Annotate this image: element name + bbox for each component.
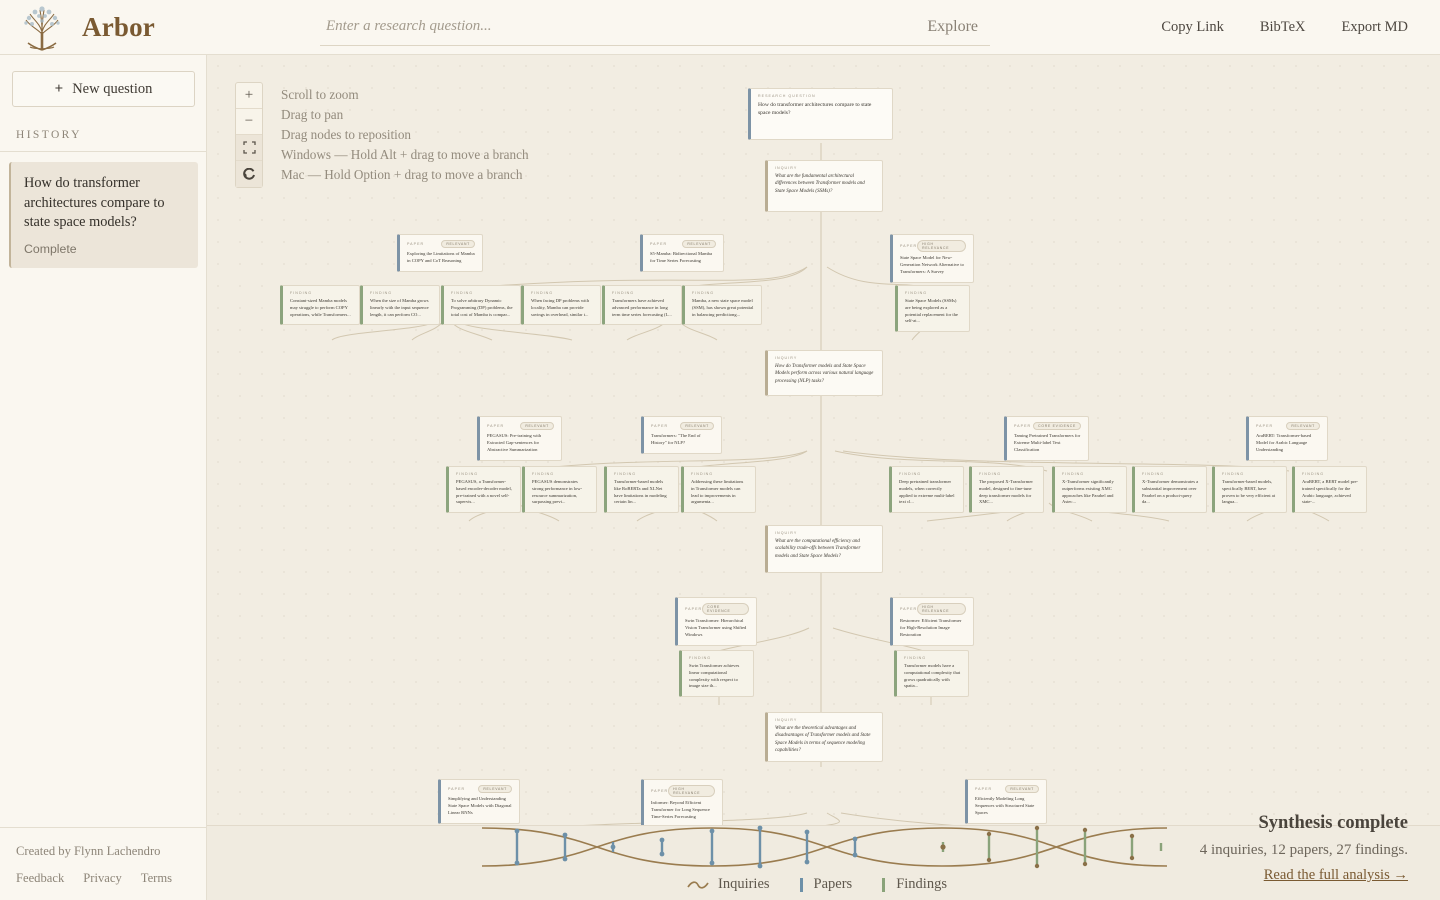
graph-node-finding-f12[interactable]: FINDINGDeep pretrained transformer model…: [889, 466, 964, 513]
graph-node-finding-f9[interactable]: FINDINGPEGASUS demonstrates strong perfo…: [522, 466, 597, 513]
node-kind-label: INQUIRY: [775, 166, 797, 170]
node-header: FINDING: [614, 472, 671, 476]
hint-scroll-zoom: Scroll to zoom: [281, 85, 529, 105]
node-kind-label: INQUIRY: [775, 531, 797, 535]
graph-node-paper-p4[interactable]: PAPERRELEVANTPEGASUS: Pre-training with …: [477, 416, 562, 461]
node-header: INQUIRY: [775, 718, 875, 722]
node-text: Transformers have achieved advanced perf…: [612, 298, 674, 318]
node-header: FINDING: [370, 291, 432, 295]
graph-node-paper-p10[interactable]: PAPERRELEVANTSimplifying and Understandi…: [438, 779, 520, 824]
node-kind-label: FINDING: [532, 472, 554, 476]
graph-node-paper-p11[interactable]: PAPERHIGH RELEVANCEInformer: Beyond Effi…: [641, 779, 723, 825]
node-text: S5-Mamba: Bidirectional Mamba for Time S…: [650, 251, 716, 265]
hint-drag-pan: Drag to pan: [281, 105, 529, 125]
explore-button[interactable]: Explore: [919, 16, 986, 38]
node-relevance-badge: RELEVANT: [478, 785, 512, 793]
node-kind-label: PAPER: [900, 244, 917, 248]
node-text: Constant-sized Mamba models may struggle…: [290, 298, 352, 318]
node-kind-label: FINDING: [689, 656, 711, 660]
node-header: PAPERCORE EVIDENCE: [1014, 422, 1081, 430]
graph-node-finding-f17[interactable]: FINDINGAraBERT, a BERT model pre-trained…: [1292, 466, 1367, 513]
graph-node-paper-p1[interactable]: PAPERRELEVANTExploring the Limitations o…: [397, 234, 483, 272]
tree-icon: [16, 2, 68, 52]
node-header: FINDING: [904, 656, 961, 660]
node-text: Swin Transformer: Hierarchical Vision Tr…: [685, 618, 749, 638]
node-relevance-badge: HIGH RELEVANCE: [917, 240, 966, 252]
legend-findings-label: Findings: [896, 876, 947, 893]
node-kind-label: FINDING: [451, 291, 473, 295]
node-text: The proposed X-Transformer model, design…: [979, 479, 1036, 506]
node-text: Efficiently Modeling Long Sequences with…: [975, 796, 1039, 816]
node-text: Transformer-based models, specifically B…: [1222, 479, 1279, 506]
node-header: FINDING: [1222, 472, 1279, 476]
node-text: To solve arbitrary Dynamic Programming (…: [451, 298, 513, 318]
legend-inquiries: Inquiries: [687, 876, 770, 893]
node-kind-label: FINDING: [370, 291, 392, 295]
synthesis-stats: 4 inquiries, 12 papers, 27 findings.: [1200, 842, 1408, 859]
wave-icon: [687, 880, 709, 890]
node-text: Exploring the Limitations of Mamba in CO…: [407, 251, 475, 265]
node-kind-label: FINDING: [899, 472, 921, 476]
graph-node-inquiry-i1[interactable]: INQUIRYWhat are the fundamental architec…: [765, 160, 883, 212]
app-title: Arbor: [82, 12, 155, 43]
graph-node-inquiry-i2[interactable]: INQUIRYHow do Transformer models and Sta…: [765, 350, 883, 396]
reset-view-button[interactable]: [236, 161, 262, 187]
node-text: What are the fundamental architectural d…: [775, 173, 875, 195]
refresh-icon: [243, 168, 256, 181]
node-text: Addressing these limitations in Transfor…: [691, 479, 748, 506]
node-header: FINDING: [456, 472, 513, 476]
node-header: INQUIRY: [775, 356, 875, 360]
history-item-status: Complete: [24, 242, 186, 256]
node-kind-label: PAPER: [650, 242, 667, 246]
graph-node-finding-f14[interactable]: FINDINGX-Transformer significantly outpe…: [1052, 466, 1127, 513]
graph-node-paper-p6[interactable]: PAPERCORE EVIDENCETaming Pretrained Tran…: [1004, 416, 1089, 461]
footer-links: Feedback Privacy Terms: [16, 871, 207, 886]
new-question-button[interactable]: + New question: [12, 71, 195, 107]
bar-icon: [880, 877, 887, 893]
graph-node-root-root[interactable]: RESEARCH QUESTIONHow do transformer arch…: [748, 88, 893, 140]
graph-node-paper-p8[interactable]: PAPERCORE EVIDENCESwin Transformer: Hier…: [675, 597, 757, 646]
zoom-in-button[interactable]: +: [236, 83, 262, 109]
graph-node-finding-f8[interactable]: FINDINGPEGASUS, a Transformer-based enco…: [446, 466, 521, 513]
graph-node-finding-f10[interactable]: FINDINGTransformer-based models like RoB…: [604, 466, 679, 513]
node-relevance-badge: RELEVANT: [441, 240, 475, 248]
read-full-analysis-link[interactable]: Read the full analysis →: [1264, 867, 1408, 884]
sidebar-footer: Created by Flynn Lachendro Feedback Priv…: [0, 827, 207, 900]
graph-node-finding-f7[interactable]: FINDINGState Space Models (SSMs) are bei…: [895, 285, 970, 332]
graph-node-finding-f1[interactable]: FINDINGConstant-sized Mamba models may s…: [280, 285, 360, 325]
graph-node-finding-f6[interactable]: FINDINGMamba, a new state space model (S…: [682, 285, 762, 325]
node-relevance-badge: RELEVANT: [1005, 785, 1039, 793]
node-text: When facing DP problems with locality, M…: [531, 298, 593, 318]
feedback-link[interactable]: Feedback: [16, 871, 64, 886]
node-kind-label: PAPER: [487, 424, 504, 428]
node-relevance-badge: HIGH RELEVANCE: [668, 785, 715, 797]
helix-visualization: [477, 818, 1167, 881]
node-header: FINDING: [451, 291, 513, 295]
node-kind-label: RESEARCH QUESTION: [758, 94, 816, 98]
node-kind-label: FINDING: [1302, 472, 1324, 476]
hint-drag-nodes: Drag nodes to reposition: [281, 125, 529, 145]
graph-node-inquiry-i3[interactable]: INQUIRYWhat are the computational effici…: [765, 525, 883, 573]
node-header: FINDING: [1302, 472, 1359, 476]
export-md-button[interactable]: Export MD: [1342, 19, 1408, 36]
legend-papers-label: Papers: [814, 876, 853, 893]
node-header: PAPERHIGH RELEVANCE: [651, 785, 715, 797]
node-relevance-badge: CORE EVIDENCE: [1033, 422, 1081, 430]
node-text: Taming Pretrained Transformers for Extre…: [1014, 433, 1081, 453]
node-header: INQUIRY: [775, 531, 875, 535]
node-relevance-badge: RELEVANT: [680, 422, 714, 430]
zoom-out-button[interactable]: −: [236, 109, 262, 135]
node-relevance-badge: RELEVANT: [520, 422, 554, 430]
canvas-hints: Scroll to zoom Drag to pan Drag nodes to…: [281, 85, 529, 185]
graph-node-paper-p2[interactable]: PAPERRELEVANTS5-Mamba: Bidirectional Mam…: [640, 234, 724, 272]
node-kind-label: PAPER: [900, 607, 917, 611]
node-header: FINDING: [1062, 472, 1119, 476]
node-header: PAPERCORE EVIDENCE: [685, 603, 749, 615]
graph-node-paper-p9[interactable]: PAPERHIGH RELEVANCERestormer: Efficient …: [890, 597, 974, 646]
node-kind-label: INQUIRY: [775, 356, 797, 360]
node-text: Swin Transformer achieves linear computa…: [689, 663, 746, 690]
node-text: AraBERT: Transformer-based Model for Ara…: [1256, 433, 1320, 453]
node-header: FINDING: [905, 291, 962, 295]
node-kind-label: FINDING: [691, 472, 713, 476]
node-text: PEGASUS demonstrates strong performance …: [532, 479, 589, 506]
node-text: Transformer models have a computational …: [904, 663, 961, 690]
node-header: PAPERRELEVANT: [1256, 422, 1320, 430]
fit-to-screen-button[interactable]: [236, 135, 262, 161]
node-text: Informer: Beyond Efficient Transformer f…: [651, 800, 715, 820]
graph-node-finding-f18[interactable]: FINDINGSwin Transformer achieves linear …: [679, 650, 754, 697]
credit-text: Created by Flynn Lachendro: [16, 844, 207, 859]
node-kind-label: FINDING: [1142, 472, 1164, 476]
new-question-label: New question: [72, 81, 152, 98]
node-kind-label: INQUIRY: [775, 718, 797, 722]
node-text: Transformers: "The End of History" for N…: [651, 433, 714, 447]
node-kind-label: PAPER: [685, 607, 702, 611]
node-kind-label: FINDING: [905, 291, 927, 295]
graph-node-finding-f13[interactable]: FINDINGThe proposed X-Transformer model,…: [969, 466, 1044, 513]
privacy-link[interactable]: Privacy: [83, 871, 121, 886]
node-kind-label: PAPER: [651, 424, 668, 428]
node-header: FINDING: [689, 656, 746, 660]
node-kind-label: FINDING: [692, 291, 714, 295]
bottom-status-bar: Inquiries Papers Findings Synthesis comp…: [207, 825, 1440, 900]
node-header: FINDING: [531, 291, 593, 295]
node-text: AraBERT, a BERT model pre-trained specif…: [1302, 479, 1359, 506]
search-input[interactable]: [324, 18, 884, 35]
node-header: FINDING: [692, 291, 754, 295]
node-text: What are the computational efficiency an…: [775, 538, 875, 560]
node-text: State Space Models (SSMs) are being expl…: [905, 298, 962, 325]
node-header: FINDING: [1142, 472, 1199, 476]
graph-node-finding-f4[interactable]: FINDINGWhen facing DP problems with loca…: [521, 285, 601, 325]
node-kind-label: FINDING: [614, 472, 636, 476]
node-text: PEGASUS: Pre-training with Extracted Gap…: [487, 433, 554, 453]
node-header: PAPERRELEVANT: [448, 785, 512, 793]
expand-icon: [243, 141, 256, 154]
node-text: X-Transformer demonstrates a substantial…: [1142, 479, 1199, 506]
node-header: FINDING: [612, 291, 674, 295]
node-header: PAPERRELEVANT: [487, 422, 554, 430]
graph-node-finding-f15[interactable]: FINDINGX-Transformer demonstrates a subs…: [1132, 466, 1207, 513]
node-text: How do Transformer models and State Spac…: [775, 363, 875, 385]
zoom-controls: + −: [235, 82, 263, 188]
node-kind-label: PAPER: [975, 787, 992, 791]
graph-canvas[interactable]: + − Scroll to zoom Drag to pan Drag node…: [207, 55, 1440, 825]
graph-node-finding-f3[interactable]: FINDINGTo solve arbitrary Dynamic Progra…: [441, 285, 521, 325]
node-text: PEGASUS, a Transformer-based encoder-dec…: [456, 479, 513, 506]
legend-findings: Findings: [880, 876, 947, 893]
legend-inquiries-label: Inquiries: [718, 876, 770, 893]
node-kind-label: PAPER: [651, 789, 668, 793]
app-header: Arbor Explore Copy Link BibTeX Export MD: [0, 0, 1440, 55]
node-text: Mamba, a new state space model (SSM), ha…: [692, 298, 754, 318]
node-header: PAPERRELEVANT: [651, 422, 714, 430]
node-relevance-badge: RELEVANT: [682, 240, 716, 248]
graph-node-inquiry-i4[interactable]: INQUIRYWhat are the theoretical advantag…: [765, 712, 883, 762]
node-header: FINDING: [691, 472, 748, 476]
node-text: X-Transformer significantly outperforms …: [1062, 479, 1119, 506]
terms-link[interactable]: Terms: [141, 871, 172, 886]
node-header: PAPERRELEVANT: [975, 785, 1039, 793]
node-kind-label: PAPER: [448, 787, 465, 791]
legend-papers: Papers: [798, 876, 853, 893]
history-item-question: How do transformer architectures compare…: [24, 174, 186, 233]
node-kind-label: FINDING: [979, 472, 1001, 476]
helix-legend: Inquiries Papers Findings: [687, 876, 947, 893]
bibtex-button[interactable]: BibTeX: [1260, 19, 1306, 36]
node-kind-label: FINDING: [456, 472, 478, 476]
search-bar[interactable]: Explore: [320, 8, 990, 46]
node-header: FINDING: [532, 472, 589, 476]
node-text: How do transformer architectures compare…: [758, 101, 885, 118]
node-kind-label: FINDING: [904, 656, 926, 660]
hint-windows-branch: Windows — Hold Alt + drag to move a bran…: [281, 145, 529, 165]
node-header: PAPERHIGH RELEVANCE: [900, 603, 966, 615]
node-kind-label: FINDING: [531, 291, 553, 295]
history-item-0[interactable]: How do transformer architectures compare…: [9, 162, 198, 268]
sidebar: + New question HISTORY How do transforme…: [0, 55, 207, 900]
graph-node-finding-f2[interactable]: FINDINGWhen the size of Mamba grows line…: [360, 285, 440, 325]
sidebar-divider: [0, 151, 207, 152]
brand: Arbor: [0, 2, 294, 52]
node-header: PAPERRELEVANT: [650, 240, 716, 248]
graph-node-finding-f5[interactable]: FINDINGTransformers have achieved advanc…: [602, 285, 682, 325]
node-header: PAPERRELEVANT: [407, 240, 475, 248]
node-text: State Space Model for New-Generation Net…: [900, 255, 966, 275]
node-text: Simplifying and Understanding State Spac…: [448, 796, 512, 816]
graph-node-paper-p7[interactable]: PAPERRELEVANTAraBERT: Transformer-based …: [1246, 416, 1328, 461]
node-kind-label: FINDING: [612, 291, 634, 295]
header-actions: Copy Link BibTeX Export MD: [1161, 19, 1440, 36]
copy-link-button[interactable]: Copy Link: [1161, 19, 1223, 36]
node-text: Deep pretrained transformer models, when…: [899, 479, 956, 506]
node-header: FINDING: [290, 291, 352, 295]
graph-node-finding-f11[interactable]: FINDINGAddressing these limitations in T…: [681, 466, 756, 513]
node-kind-label: PAPER: [407, 242, 424, 246]
node-kind-label: FINDING: [1062, 472, 1084, 476]
history-heading: HISTORY: [16, 129, 206, 141]
node-relevance-badge: HIGH RELEVANCE: [917, 603, 966, 615]
node-kind-label: PAPER: [1014, 424, 1031, 428]
graph-node-paper-p12[interactable]: PAPERRELEVANTEfficiently Modeling Long S…: [965, 779, 1047, 824]
graph-node-finding-f19[interactable]: FINDINGTransformer models have a computa…: [894, 650, 969, 697]
node-kind-label: FINDING: [1222, 472, 1244, 476]
plus-icon: +: [55, 81, 64, 98]
node-header: FINDING: [979, 472, 1036, 476]
graph-node-finding-f16[interactable]: FINDINGTransformer-based models, specifi…: [1212, 466, 1287, 513]
graph-node-paper-p5[interactable]: PAPERRELEVANTTransformers: "The End of H…: [641, 416, 722, 454]
node-text: Transformer-based models like RoBERTa an…: [614, 479, 671, 506]
node-text: When the size of Mamba grows linearly wi…: [370, 298, 432, 318]
node-kind-label: PAPER: [1256, 424, 1273, 428]
node-text: Restormer: Efficient Transformer for Hig…: [900, 618, 966, 638]
node-relevance-badge: CORE EVIDENCE: [702, 603, 749, 615]
node-header: PAPERHIGH RELEVANCE: [900, 240, 966, 252]
node-header: RESEARCH QUESTION: [758, 94, 885, 98]
node-relevance-badge: RELEVANT: [1286, 422, 1320, 430]
hint-mac-branch: Mac — Hold Option + drag to move a branc…: [281, 165, 529, 185]
graph-node-paper-p3[interactable]: PAPERHIGH RELEVANCEState Space Model for…: [890, 234, 974, 283]
bar-icon: [798, 877, 805, 893]
node-header: FINDING: [899, 472, 956, 476]
node-kind-label: FINDING: [290, 291, 312, 295]
node-header: INQUIRY: [775, 166, 875, 170]
node-text: What are the theoretical advantages and …: [775, 725, 875, 755]
